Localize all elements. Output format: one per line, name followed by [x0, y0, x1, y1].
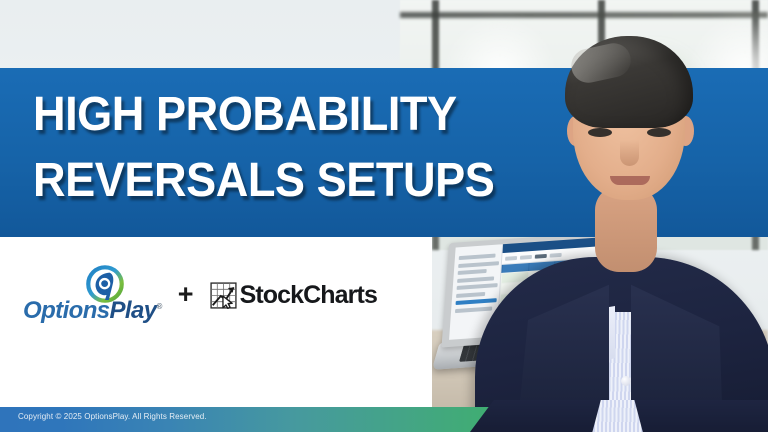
presenter-hair — [565, 36, 693, 128]
presenter-mouth — [610, 176, 650, 185]
presenter-eye-left — [588, 128, 612, 137]
title-line-1: HIGH PROBABILITY — [33, 82, 500, 148]
logo-lockup: OptionsPlay® + — [0, 265, 400, 325]
presenter-nose — [620, 140, 639, 166]
presenter-portrait — [455, 0, 768, 432]
presenter-eye-right — [647, 128, 671, 137]
optionsplay-word-options: Options — [23, 297, 109, 324]
title-line-2: REVERSALS SETUPS — [33, 148, 500, 214]
plus-separator: + — [178, 279, 194, 310]
registered-trademark-mark: ® — [157, 302, 162, 311]
shirt-button — [621, 376, 631, 386]
optionsplay-word-play: Play — [110, 297, 157, 324]
stockcharts-logo: StockCharts — [210, 281, 377, 310]
stockcharts-wordmark: StockCharts — [240, 281, 377, 310]
title-block: HIGH PROBABILITY REVERSALS SETUPS — [0, 68, 530, 237]
video-thumbnail: HIGH PROBABILITY REVERSALS SETUPS — [0, 0, 768, 432]
copyright-text: Copyright © 2025 OptionsPlay. All Rights… — [18, 412, 207, 421]
optionsplay-logo: OptionsPlay® — [23, 265, 162, 325]
logo-panel: OptionsPlay® + — [0, 237, 432, 407]
optionsplay-wordmark: OptionsPlay® — [23, 297, 162, 325]
stockcharts-grid-cursor-logo — [210, 282, 237, 309]
